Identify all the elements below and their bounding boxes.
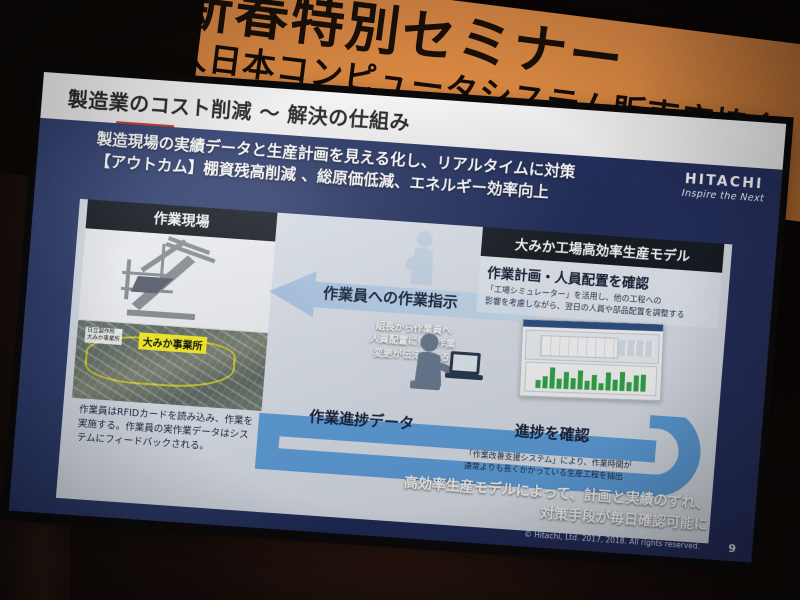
production-model-panel: 大みか工場高効率生産モデル 作業計画・人員配置を確認 「工場シミュレーター」を活… [476, 227, 724, 329]
aerial-photo-label: 大みか事業所 [138, 332, 207, 354]
aerial-photo-sublabel: 日立製作所 大みか事業所 [84, 327, 122, 346]
dashboard-table-panel [525, 330, 660, 365]
bar [612, 380, 617, 391]
bar-chart-bars [535, 364, 653, 392]
slide-content: 製造業のコスト削減 ～ 解決の仕組み 製造現場の実績データと生産計画を見える化し… [9, 72, 787, 562]
aerial-site-photo: 日立製作所 大みか事業所 大みか事業所 [72, 320, 268, 411]
bar [563, 372, 569, 389]
photo-of-projected-slide: CA 新春特別セミナー 一般社団法人日本コンピュータシステム販売店協会 製造業の… [0, 0, 800, 600]
work-site-panel: 作業現場 [68, 199, 277, 457]
dashboard-buttons [618, 340, 655, 357]
standing-worker-icon [394, 227, 447, 288]
bar [640, 374, 646, 391]
bar [556, 379, 561, 389]
bar [549, 367, 555, 388]
bar [619, 372, 625, 391]
bar [591, 375, 597, 390]
dashboard-screenshot [519, 318, 665, 401]
bar [535, 380, 540, 388]
dashboard-grid [540, 335, 619, 359]
projection-screen: 製造業のコスト削減 ～ 解決の仕組み 製造現場の実績データと生産計画を見える化し… [9, 72, 787, 562]
bar [598, 383, 603, 390]
bar [570, 379, 575, 390]
hitachi-logo: HITACHI Inspire the Next [681, 171, 766, 205]
slide-body: 製造現場の実績データと生産計画を見える化し、リアルタイムに対策 【アウトカム】棚… [9, 118, 783, 563]
bar [542, 376, 548, 389]
dashboard-bar-chart [524, 362, 657, 397]
bar [584, 381, 589, 390]
bar [633, 376, 639, 392]
bar [626, 382, 631, 391]
page-number: 9 [728, 542, 737, 555]
scaffold-illustration-svg [78, 228, 275, 333]
worker-illustration [78, 228, 275, 333]
seated-worker-icon [404, 330, 487, 397]
bar [605, 373, 611, 391]
bar [577, 371, 583, 390]
